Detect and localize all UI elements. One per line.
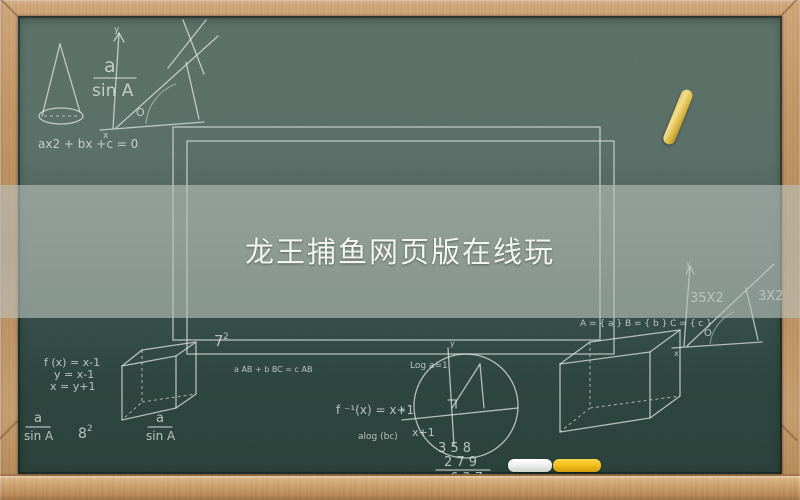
- svg-text:a: a: [156, 411, 164, 426]
- formula-a-over-sina-bottom-left: a sin A: [24, 411, 54, 443]
- svg-text:sin A: sin A: [24, 429, 54, 443]
- svg-text:6 3 7: 6 3 7: [450, 471, 483, 474]
- svg-text:x = y+1: x = y+1: [50, 380, 95, 393]
- svg-text:8: 8: [78, 426, 87, 442]
- svg-text:a: a: [34, 411, 42, 426]
- function-equations: f (x) = x-1 y = x-1 x = y+1: [44, 356, 100, 393]
- formula-a-over-sina-left: a sin A: [92, 55, 136, 101]
- svg-text:a: a: [104, 55, 116, 77]
- cone-drawing: [39, 44, 83, 124]
- svg-text:sin A: sin A: [146, 429, 176, 443]
- svg-text:x+1: x+1: [412, 426, 435, 439]
- yellow-chalk-ledge-icon: [553, 459, 601, 472]
- screenshot-root: .ck{fill:none;stroke:#e8ece9;stroke-opac…: [0, 0, 800, 500]
- svg-text:x: x: [400, 405, 405, 414]
- svg-text:O: O: [704, 328, 712, 339]
- formula-quadratic: ax2 + bx +c = 0: [38, 137, 138, 151]
- svg-text:3 5 8: 3 5 8: [438, 441, 471, 456]
- svg-text:sin A: sin A: [92, 81, 134, 101]
- formula-eight-squared: 8 2: [78, 424, 93, 442]
- ledge-wood-grain: [0, 476, 800, 500]
- svg-text:2: 2: [87, 424, 93, 434]
- page-title: 龙王捕鱼网页版在线玩: [0, 222, 800, 278]
- svg-text:O: O: [136, 106, 145, 119]
- svg-text:x: x: [674, 349, 679, 358]
- chalk-ledge: [0, 476, 800, 500]
- addition-sum: x+1 3 5 8 2 7 9 6 3 7: [412, 426, 490, 474]
- svg-text:2 7 9: 2 7 9: [444, 455, 477, 470]
- formula-vectors: a AB + b BC = c AB: [234, 365, 312, 374]
- svg-text:y: y: [114, 25, 120, 35]
- formula-seven-squared: 7 2: [214, 332, 229, 350]
- white-chalk-icon: [508, 459, 552, 472]
- cube-drawing: [122, 342, 196, 420]
- cube-drawing-right: [560, 330, 680, 432]
- formula-alog-bc: alog (bc): [358, 432, 398, 442]
- svg-text:x: x: [103, 131, 109, 141]
- formula-a-over-sina-bottom-middle: a sin A: [146, 411, 176, 443]
